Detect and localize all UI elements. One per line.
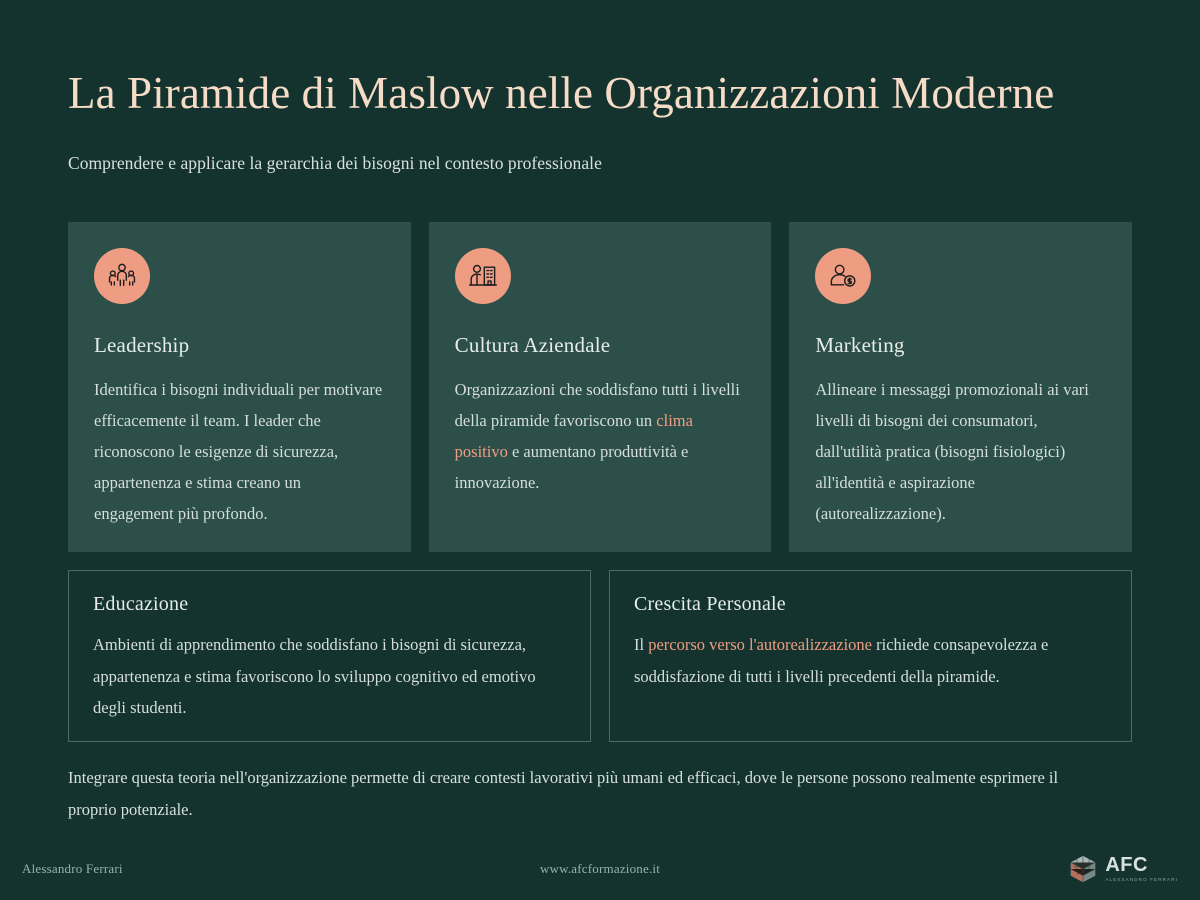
card-body: Organizzazioni che soddisfano tutti i li… (455, 374, 746, 498)
highlighted-phrase: percorso verso l'autorealizzazione (648, 635, 872, 654)
info-box-educazione[interactable]: Educazione Ambienti di apprendimento che… (68, 570, 591, 742)
box-title: Crescita Personale (634, 593, 1107, 616)
logo-word: AFC (1105, 855, 1178, 875)
feature-card-cultura-aziendale[interactable]: Cultura Aziendale Organizzazioni che sod… (429, 222, 772, 552)
person-money-icon (815, 248, 871, 304)
slide-root: La Piramide di Maslow nelle Organizzazio… (0, 0, 1200, 900)
box-body: Il percorso verso l'autorealizzazione ri… (634, 629, 1107, 692)
card-body: Identifica i bisogni individuali per mot… (94, 374, 385, 529)
secondary-boxes-row: Educazione Ambienti di apprendimento che… (68, 570, 1132, 742)
card-title: Leadership (94, 333, 385, 358)
header: La Piramide di Maslow nelle Organizzazio… (68, 68, 1132, 174)
logo-text-block: AFC ALESSANDRO FERRARI (1105, 855, 1178, 883)
closing-paragraph: Integrare questa teoria nell'organizzazi… (68, 762, 1078, 826)
page-title: La Piramide di Maslow nelle Organizzazio… (68, 68, 1132, 120)
card-title: Cultura Aziendale (455, 333, 746, 358)
logo-subtitle: ALESSANDRO FERRARI (1105, 878, 1178, 883)
afc-logo[interactable]: AFC ALESSANDRO FERRARI (1068, 854, 1178, 884)
footer-website[interactable]: www.afcformazione.it (0, 861, 1200, 877)
feature-card-leadership[interactable]: Leadership Identifica i bisogni individu… (68, 222, 411, 552)
card-body: Allineare i messaggi promozionali ai var… (815, 374, 1106, 529)
box-title: Educazione (93, 593, 566, 616)
cube-mosaic-logo-icon (1068, 854, 1098, 884)
page-subtitle: Comprendere e applicare la gerarchia dei… (68, 153, 1132, 174)
group-people-icon (94, 248, 150, 304)
footer: Alessandro Ferrari www.afcformazione.it … (0, 838, 1200, 900)
person-building-icon (455, 248, 511, 304)
box-body: Ambienti di apprendimento che soddisfano… (93, 629, 566, 724)
info-box-crescita-personale[interactable]: Crescita Personale Il percorso verso l'a… (609, 570, 1132, 742)
card-title: Marketing (815, 333, 1106, 358)
feature-cards-row: Leadership Identifica i bisogni individu… (68, 222, 1132, 552)
feature-card-marketing[interactable]: Marketing Allineare i messaggi promozion… (789, 222, 1132, 552)
